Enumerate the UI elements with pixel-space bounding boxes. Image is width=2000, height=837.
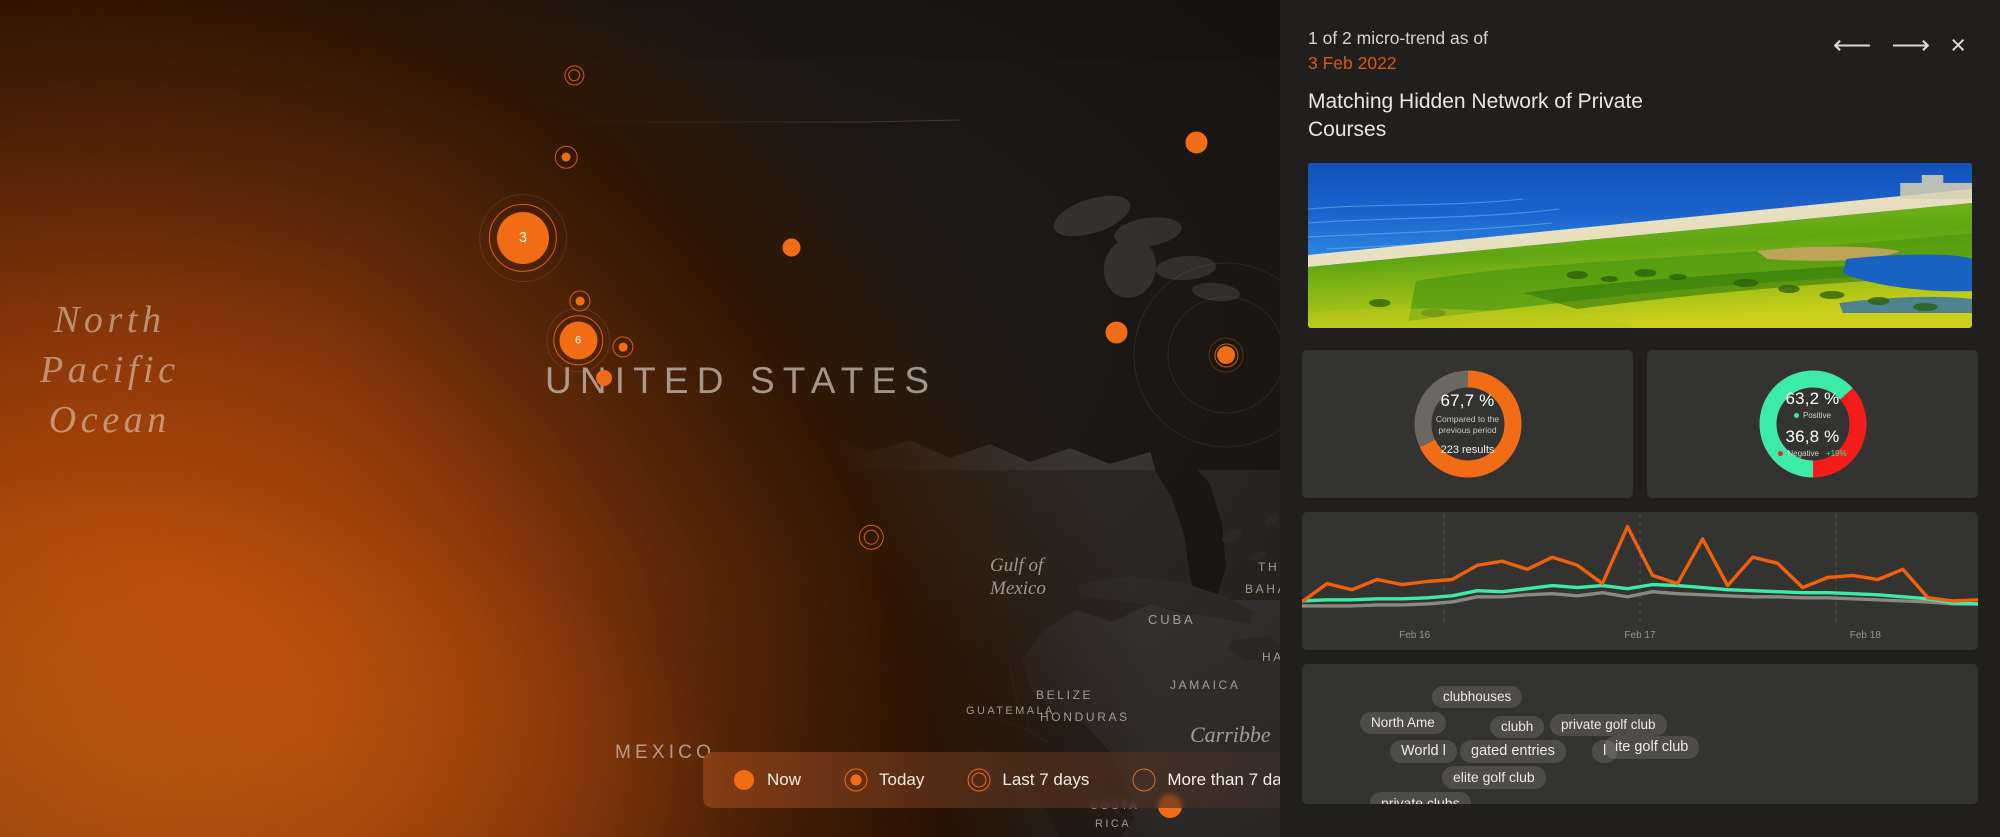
map-marker[interactable] bbox=[553, 144, 580, 171]
positive-swatch bbox=[1794, 413, 1799, 418]
compare-value: 67,7 % bbox=[1441, 391, 1495, 411]
map-marker[interactable] bbox=[1180, 126, 1213, 159]
donut-row: 67,7 % Compared to the previous period 2… bbox=[1302, 350, 1978, 498]
sentiment-donut-card: 63,2 % Positive 36,8 % Negative +19% bbox=[1647, 350, 1978, 498]
compare-caption-2: previous period bbox=[1438, 425, 1496, 435]
keyword-cloud-card: clubhousesNorth Ameclubhprivate golf clu… bbox=[1302, 664, 1978, 804]
keyword-tag[interactable]: elite golf club bbox=[1442, 766, 1546, 789]
map-marker[interactable] bbox=[1100, 316, 1133, 349]
map-canvas[interactable]: NorthPacificOcean UNITED STATESMEXICOCUB… bbox=[0, 0, 1280, 837]
next-arrow-icon[interactable]: ⟶ bbox=[1892, 32, 1931, 59]
compare-donut-card: 67,7 % Compared to the previous period 2… bbox=[1302, 350, 1633, 498]
outline-ring-icon bbox=[1133, 769, 1155, 791]
compare-caption-1: Compared to the bbox=[1436, 414, 1499, 424]
keyword-tag[interactable]: North Ame bbox=[1360, 712, 1446, 734]
map-marker[interactable] bbox=[1207, 336, 1246, 375]
sentiment-negative-value: 36,8 % bbox=[1786, 427, 1840, 447]
panel-meta: 1 of 2 micro-trend as of 3 Feb 2022 bbox=[1308, 26, 1488, 76]
map-cluster-count: 6 bbox=[559, 321, 597, 359]
double-ring-icon bbox=[968, 769, 990, 791]
keyword-tag[interactable]: private clubs bbox=[1370, 792, 1471, 804]
keyword-tag[interactable]: World l bbox=[1390, 740, 1457, 763]
trend-photo[interactable] bbox=[1308, 163, 1972, 328]
filled-dot-icon bbox=[733, 769, 755, 791]
legend-label: Now bbox=[767, 770, 801, 790]
x-tick-label: Feb 17 bbox=[1527, 630, 1752, 641]
panel-title: Matching Hidden Network of Private Cours… bbox=[1280, 76, 1736, 145]
app-root: NorthPacificOcean UNITED STATESMEXICOCUB… bbox=[0, 0, 2000, 837]
prev-arrow-icon[interactable]: ⟵ bbox=[1833, 32, 1872, 59]
keyword-tag[interactable]: private golf club bbox=[1550, 714, 1667, 736]
map-marker[interactable] bbox=[778, 234, 805, 261]
compare-results: 223 results bbox=[1441, 444, 1495, 456]
legend-item-last-7-days[interactable]: Last 7 days bbox=[968, 769, 1089, 791]
timeline-x-axis: Feb 16Feb 17Feb 18 bbox=[1302, 630, 1978, 641]
map-marker[interactable]: 6 bbox=[550, 312, 607, 369]
panel-header: 1 of 2 micro-trend as of 3 Feb 2022 ⟵ ⟶ … bbox=[1280, 0, 2000, 76]
panel-nav: ⟵ ⟶ × bbox=[1833, 26, 1972, 59]
map-marker[interactable] bbox=[858, 524, 885, 551]
golf-course-photo bbox=[1308, 163, 1972, 328]
legend-label: Last 7 days bbox=[1002, 770, 1089, 790]
close-icon[interactable]: × bbox=[1950, 32, 1966, 59]
panel-meta-prefix: 1 of 2 micro-trend as of bbox=[1308, 28, 1488, 48]
compare-donut: 67,7 % Compared to the previous period 2… bbox=[1411, 367, 1525, 481]
keyword-tag[interactable]: ite golf club bbox=[1604, 736, 1699, 759]
map-cluster-count: 3 bbox=[497, 212, 549, 264]
map-marker[interactable] bbox=[592, 366, 616, 390]
negative-swatch bbox=[1778, 451, 1783, 456]
sentiment-delta-badge: +19% bbox=[1826, 449, 1847, 458]
legend-label: Today bbox=[879, 770, 924, 790]
positive-label: Positive bbox=[1803, 411, 1831, 420]
negative-label: Negative bbox=[1787, 449, 1819, 458]
metric-cards: 67,7 % Compared to the previous period 2… bbox=[1302, 350, 1978, 804]
keyword-tag[interactable]: clubhouses bbox=[1432, 686, 1522, 708]
sentiment-negative-legend: Negative +19% bbox=[1778, 449, 1846, 458]
map-marker[interactable] bbox=[611, 335, 635, 359]
sentiment-positive-value: 63,2 % bbox=[1786, 389, 1840, 409]
legend-item-now[interactable]: Now bbox=[733, 769, 801, 791]
x-tick-label: Feb 16 bbox=[1302, 630, 1527, 641]
timeline-chart bbox=[1302, 512, 1978, 624]
legend-item-today[interactable]: Today bbox=[845, 769, 924, 791]
legend-item-more-than-7-days-ago[interactable]: More than 7 days ago bbox=[1133, 769, 1280, 791]
map-marker[interactable] bbox=[564, 65, 585, 86]
timeline-chart-card: Feb 16Feb 17Feb 18 bbox=[1302, 512, 1978, 650]
map-marker[interactable]: 3 bbox=[484, 199, 562, 277]
map-landmass bbox=[0, 0, 1280, 837]
legend-label: More than 7 days ago bbox=[1167, 770, 1280, 790]
ring-dot-icon bbox=[845, 769, 867, 791]
keyword-tag[interactable]: gated entries bbox=[1460, 740, 1566, 763]
sentiment-positive-legend: Positive bbox=[1794, 411, 1831, 420]
keyword-cloud[interactable]: clubhousesNorth Ameclubhprivate golf clu… bbox=[1302, 664, 1978, 804]
panel-meta-date: 3 Feb 2022 bbox=[1308, 53, 1397, 73]
detail-panel: 1 of 2 micro-trend as of 3 Feb 2022 ⟵ ⟶ … bbox=[1280, 0, 2000, 837]
sentiment-donut: 63,2 % Positive 36,8 % Negative +19% bbox=[1756, 367, 1870, 481]
map-legend: NowTodayLast 7 daysMore than 7 days ago bbox=[703, 752, 1280, 808]
keyword-tag[interactable]: clubh bbox=[1490, 716, 1544, 738]
x-tick-label: Feb 18 bbox=[1753, 630, 1978, 641]
